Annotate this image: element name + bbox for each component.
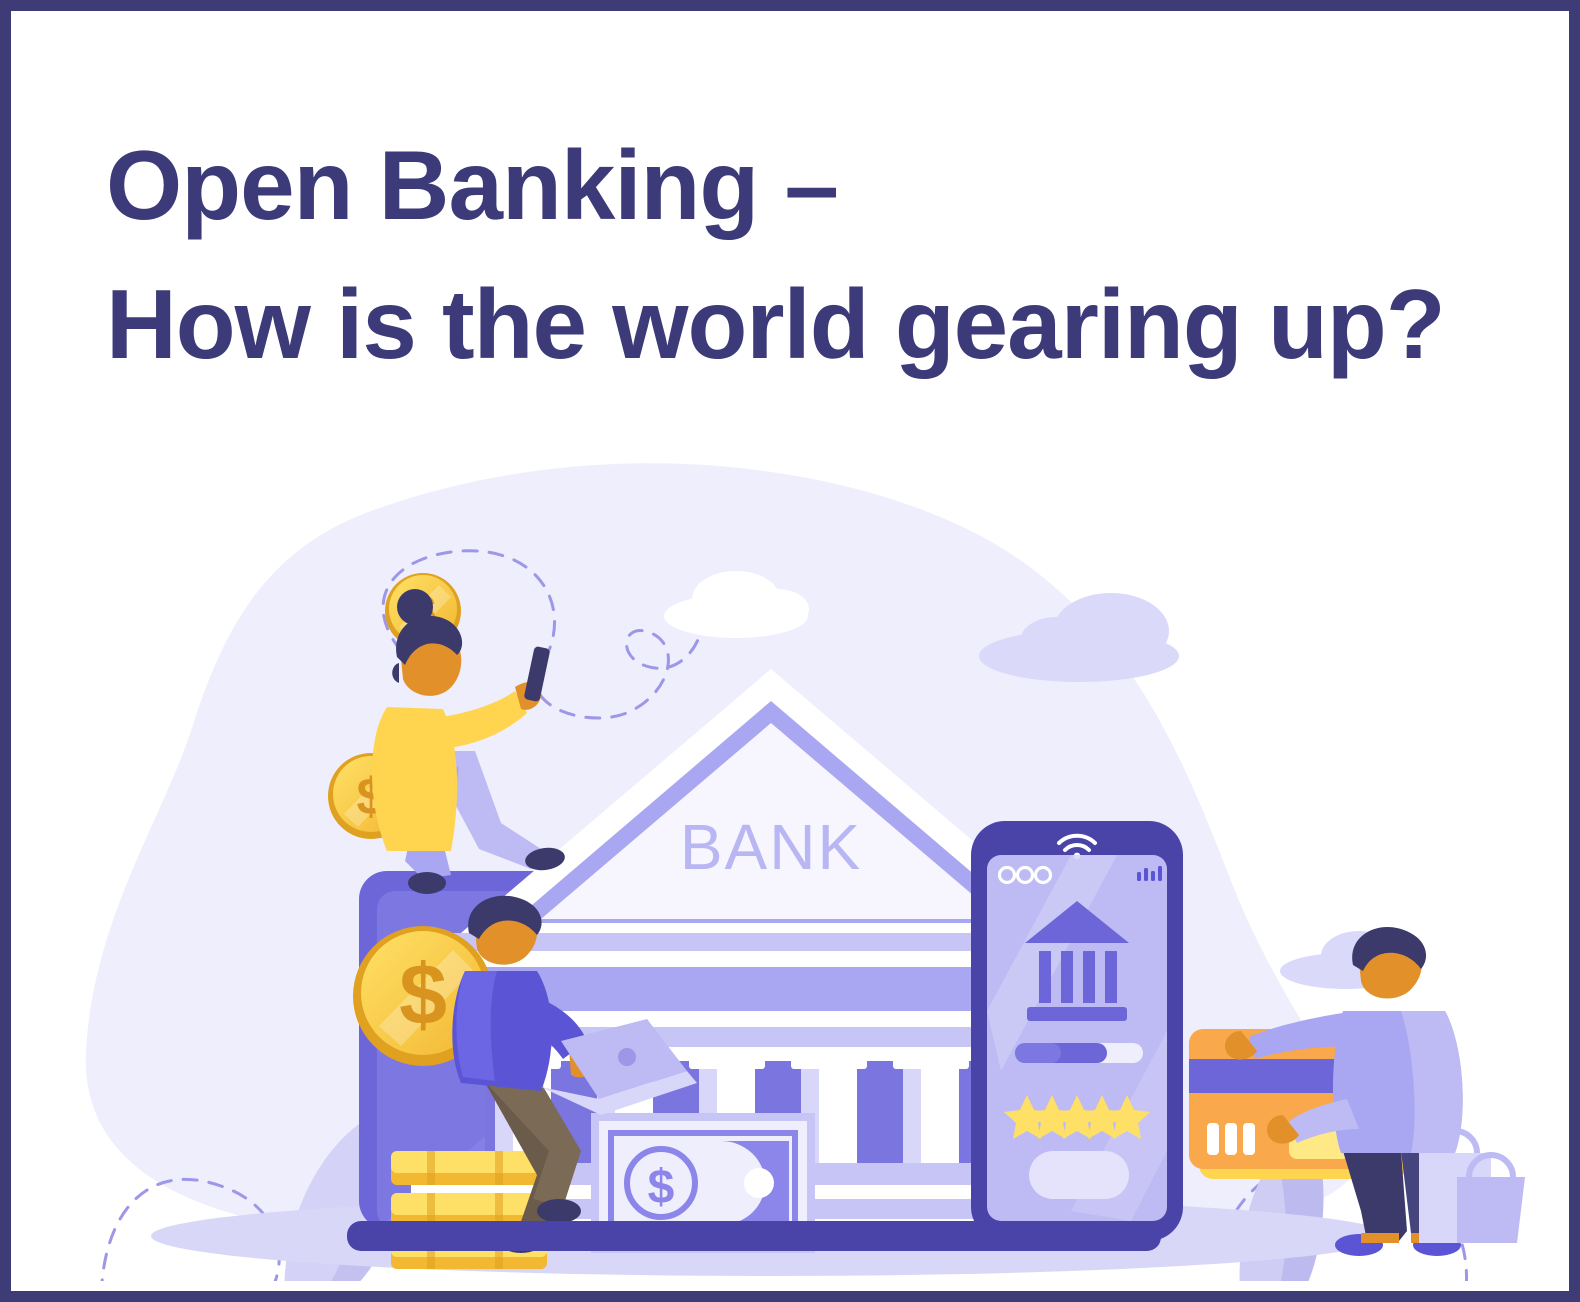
progress-bar — [1015, 1043, 1143, 1063]
svg-text:$: $ — [399, 947, 447, 1043]
tablet-base — [347, 1221, 1161, 1251]
bank-sign-text: BANK — [680, 811, 862, 883]
poster-canvas: Open Banking – How is the world gearing … — [0, 0, 1580, 1302]
open-banking-illustration: % $ — [71, 451, 1531, 1281]
page-title: Open Banking – How is the world gearing … — [106, 116, 1506, 394]
svg-text:$: $ — [648, 1161, 675, 1214]
title-line-1: Open Banking – — [106, 116, 1506, 255]
smartphone-device[interactable] — [971, 821, 1183, 1241]
phone-action-button[interactable] — [1029, 1151, 1129, 1199]
shopping-bags — [1419, 1131, 1525, 1243]
title-line-2: How is the world gearing up? — [106, 255, 1506, 394]
